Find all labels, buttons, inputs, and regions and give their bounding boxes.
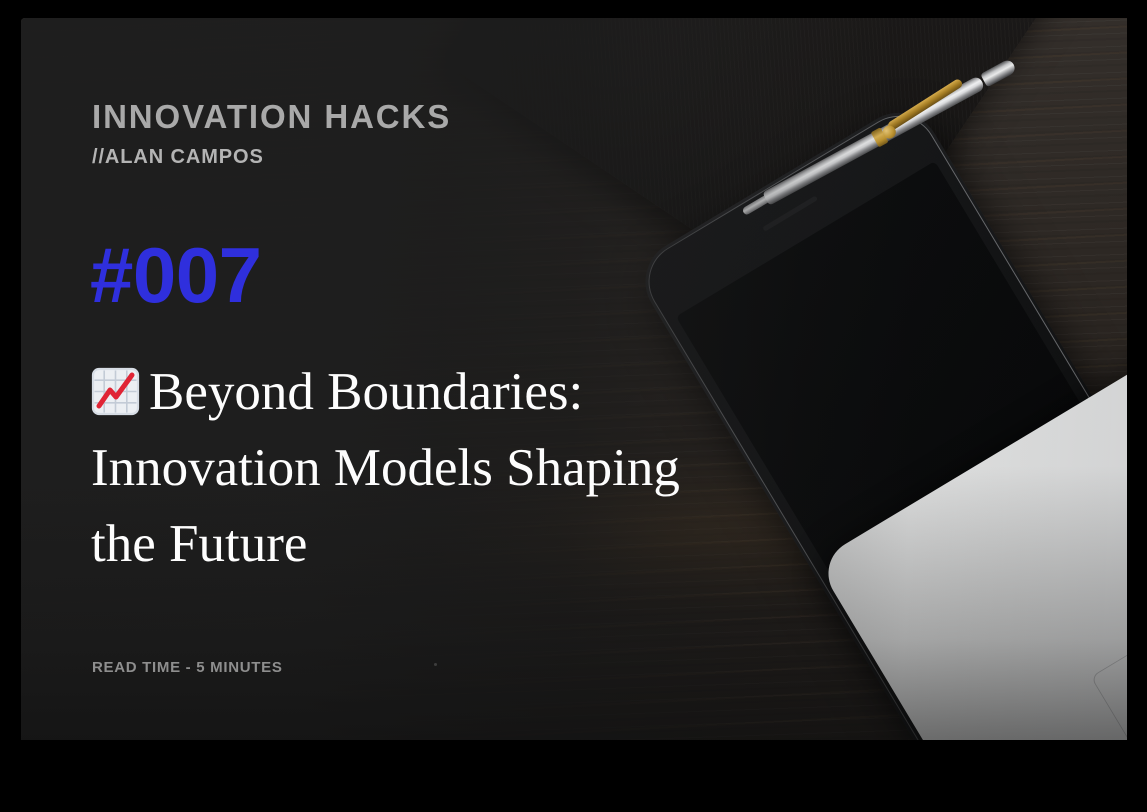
brand-title: INNOVATION HACKS bbox=[92, 98, 451, 136]
headline-text: Beyond Boundaries: Innovation Models Sha… bbox=[91, 363, 680, 573]
screenshot-canvas: INNOVATION HACKS //ALAN CAMPOS #007 bbox=[0, 0, 1147, 812]
hero-text-content: INNOVATION HACKS //ALAN CAMPOS #007 bbox=[21, 18, 1127, 740]
chart-increasing-icon bbox=[91, 361, 140, 410]
headline: Beyond Boundaries: Innovation Models Sha… bbox=[91, 354, 731, 582]
newsletter-hero-card: INNOVATION HACKS //ALAN CAMPOS #007 bbox=[21, 18, 1127, 740]
author-byline: //ALAN CAMPOS bbox=[92, 146, 264, 169]
issue-number: #007 bbox=[90, 230, 262, 321]
read-time-label: READ TIME - 5 MINUTES bbox=[92, 659, 283, 676]
background-speck bbox=[434, 663, 437, 666]
